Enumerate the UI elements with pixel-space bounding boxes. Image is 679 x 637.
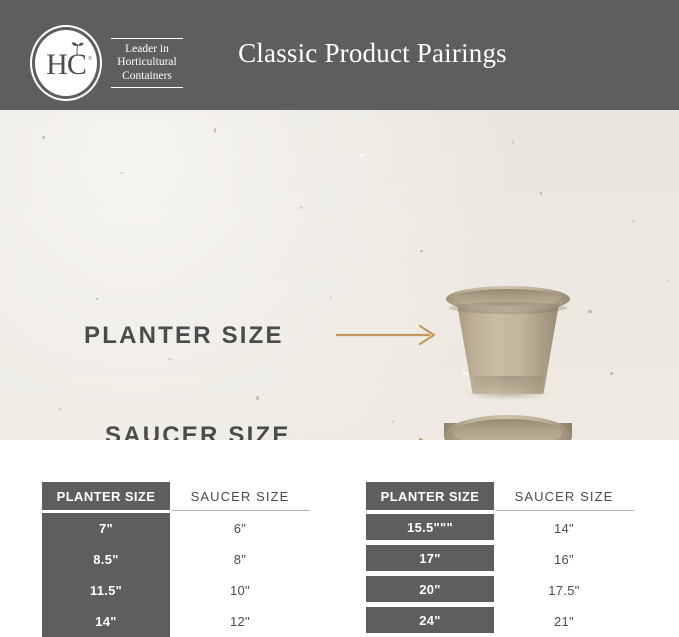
cell-saucer-size: 6" xyxy=(170,513,310,544)
size-chart-tables: PLANTER SIZE SAUCER SIZE 7" 6" 8.5" 8" 1… xyxy=(0,440,679,636)
table-row: 24" 21" xyxy=(366,606,634,637)
arrow-right-icon-saucer xyxy=(334,423,442,440)
tagline-line-3: Containers xyxy=(113,70,181,84)
cell-planter-size: 17" xyxy=(366,545,494,571)
cell-saucer-size: 8" xyxy=(170,544,310,575)
column-header-rule-large xyxy=(496,510,634,511)
size-table-large: PLANTER SIZE SAUCER SIZE 15.5""" 14" 17"… xyxy=(366,482,634,510)
cell-planter-size: 15.5""" xyxy=(366,514,494,540)
cell-saucer-size: 12" xyxy=(170,606,310,637)
cell-saucer-size: 16" xyxy=(494,544,634,575)
arrow-right-icon-planter xyxy=(334,323,442,347)
scene-background xyxy=(0,110,679,440)
saucer-dish-image xyxy=(444,415,572,440)
cell-planter-size: 20" xyxy=(366,576,494,602)
column-header-planter-small: PLANTER SIZE xyxy=(42,482,170,510)
tagline-rule-bottom xyxy=(111,87,183,88)
page-title: Classic Product Pairings xyxy=(0,38,679,69)
cell-saucer-size: 14" xyxy=(494,513,634,544)
table-row: 17" 16" xyxy=(366,544,634,575)
cell-planter-size: 14" xyxy=(42,606,170,637)
saucer-size-label: SAUCER SIZE xyxy=(105,422,233,440)
product-scene: PLANTER SIZE SAUCER SIZE xyxy=(0,110,679,440)
cell-planter-size: 8.5" xyxy=(42,544,170,575)
column-header-saucer-small: SAUCER SIZE xyxy=(170,482,310,510)
cell-planter-size: 7" xyxy=(42,513,170,544)
table-header-row-small: PLANTER SIZE SAUCER SIZE xyxy=(42,482,310,510)
saucer-dish-basin xyxy=(454,419,562,440)
cell-planter-size: 24" xyxy=(366,607,494,633)
table-row: 8.5" 8" xyxy=(42,544,310,575)
table-row: 11.5" 10" xyxy=(42,575,310,606)
table-row: 7" 6" xyxy=(42,513,310,544)
table-row: 14" 12" xyxy=(42,606,310,637)
column-header-rule-small xyxy=(172,510,310,511)
cell-saucer-size: 17.5" xyxy=(494,575,634,606)
table-body-large: 15.5""" 14" 17" 16" 20" 17.5" 24" 21" xyxy=(366,513,634,637)
cell-planter-size: 11.5" xyxy=(42,575,170,606)
cell-saucer-size: 21" xyxy=(494,606,634,637)
column-header-saucer-large: SAUCER SIZE xyxy=(494,482,634,510)
column-header-planter-large: PLANTER SIZE xyxy=(366,482,494,510)
table-header-row-large: PLANTER SIZE SAUCER SIZE xyxy=(366,482,634,510)
size-table-small: PLANTER SIZE SAUCER SIZE 7" 6" 8.5" 8" 1… xyxy=(42,482,310,510)
planter-pot-image xyxy=(446,280,570,398)
table-body-small: 7" 6" 8.5" 8" 11.5" 10" 14" 12" xyxy=(42,513,310,637)
planter-pot-rim-groove xyxy=(449,302,567,314)
planter-size-label: PLANTER SIZE xyxy=(84,322,284,350)
cell-saucer-size: 10" xyxy=(170,575,310,606)
header-bar: HC ® Leader in Horticultural Containers … xyxy=(0,0,679,110)
table-row: 20" 17.5" xyxy=(366,575,634,606)
table-row: 15.5""" 14" xyxy=(366,513,634,544)
